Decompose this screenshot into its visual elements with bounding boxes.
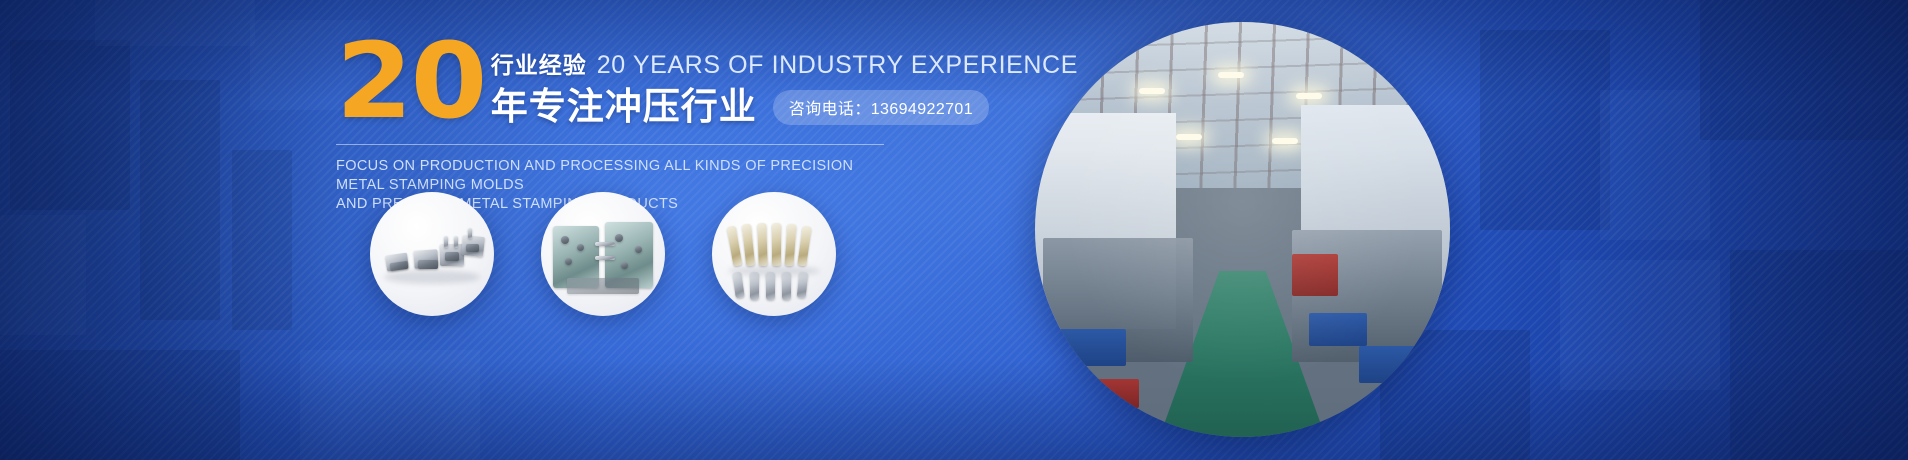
terminal-pin (750, 272, 759, 300)
terminal-pin (782, 272, 791, 300)
stamped-pin (444, 236, 448, 248)
factory-photo-circle[interactable] (1035, 22, 1450, 437)
stamped-pin (454, 236, 458, 248)
product-circle-mold[interactable] (541, 192, 665, 316)
promo-banner: 20 行业经验 20 YEARS OF INDUSTRY EXPERIENCE … (0, 0, 1908, 460)
terminal-pin (757, 223, 767, 266)
stamped-part (445, 252, 459, 261)
headline-text: 行业经验 20 YEARS OF INDUSTRY EXPERIENCE 年专注… (491, 34, 1078, 128)
years-number: 20 (336, 36, 485, 126)
part-shadow (384, 270, 480, 284)
terminal-pin (727, 226, 743, 267)
product-circle-terminals[interactable] (712, 192, 836, 316)
cn-tagline-small: 行业经验 (491, 46, 587, 80)
stamped-part (466, 244, 479, 252)
factory-photo-grade (1035, 22, 1450, 437)
terminal-pin (797, 272, 809, 299)
product-circle-connectors[interactable] (370, 192, 494, 316)
mold-hole (635, 246, 642, 253)
terminal-pin (732, 272, 745, 299)
terminal-pin (785, 224, 797, 267)
banner-content: 20 行业经验 20 YEARS OF INDUSTRY EXPERIENCE … (336, 34, 896, 214)
subtitle-line-1: FOCUS ON PRODUCTION AND PROCESSING ALL K… (336, 157, 888, 195)
terminal-pin (766, 272, 775, 300)
mold-hole (615, 234, 623, 242)
cn-tagline-big: 年专注冲压行业 (491, 86, 757, 128)
mold-hole (577, 244, 584, 251)
stamped-pin (468, 228, 472, 239)
en-tagline: 20 YEARS OF INDUSTRY EXPERIENCE (597, 51, 1078, 80)
mold-rail (595, 242, 615, 246)
phone-badge[interactable]: 咨询电话：13694922701 (773, 90, 989, 125)
mold-hole (565, 258, 572, 265)
mold-hole (621, 262, 628, 269)
headline-row: 20 行业经验 20 YEARS OF INDUSTRY EXPERIENCE … (336, 34, 896, 128)
mold-base (567, 278, 639, 294)
stamped-part (390, 261, 409, 271)
headline-line-2: 年专注冲压行业 咨询电话：13694922701 (491, 86, 1078, 128)
terminal-pin (772, 223, 781, 266)
divider (336, 144, 884, 145)
mold-rail (595, 256, 615, 260)
terminal-pin (797, 226, 811, 267)
stamped-part (418, 260, 438, 269)
mold-hole (561, 236, 569, 244)
headline-line-1: 行业经验 20 YEARS OF INDUSTRY EXPERIENCE (491, 46, 1078, 80)
terminal-pin (742, 224, 755, 267)
part-shadow (728, 266, 820, 276)
